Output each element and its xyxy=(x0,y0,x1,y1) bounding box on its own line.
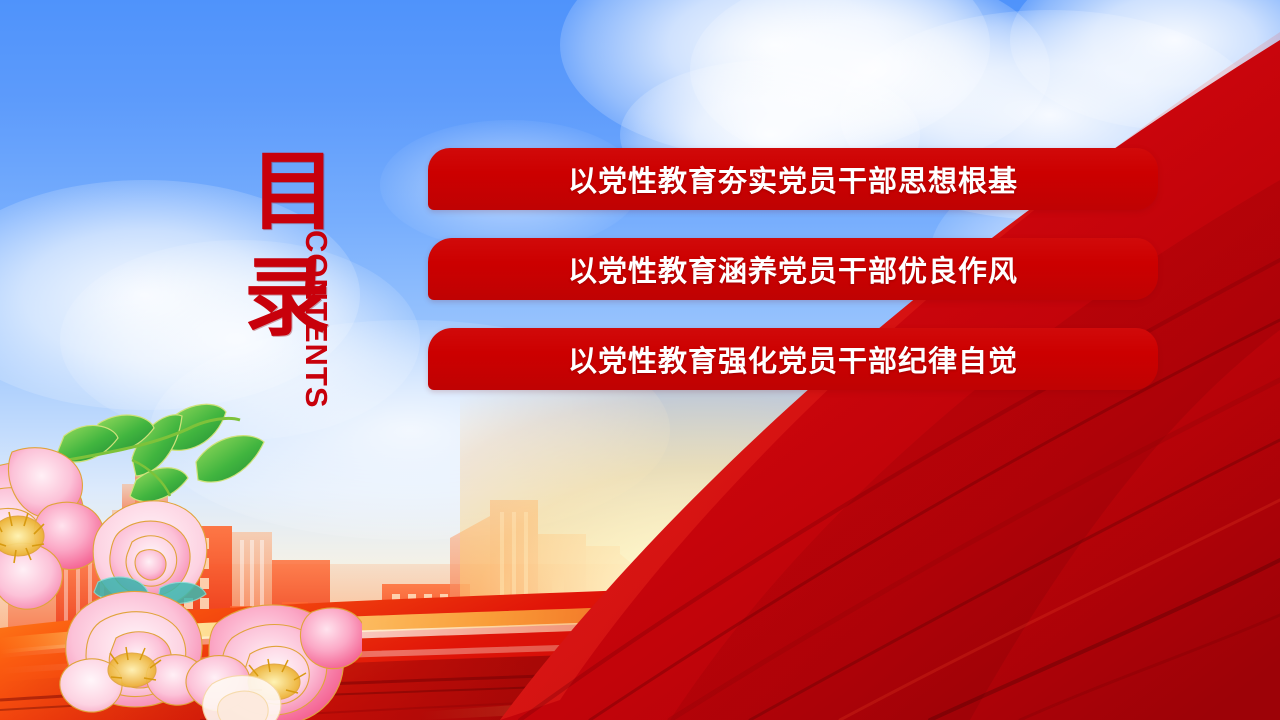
contents-title-block: 目 录 CONTENTS xyxy=(250,150,400,420)
slide-canvas: 目 录 CONTENTS 以党性教育夯实党员干部思想根基 以党性教育涵养党员干部… xyxy=(0,0,1280,720)
contents-title-cn-char-1: 目 xyxy=(250,150,350,234)
contents-item-1[interactable]: 以党性教育夯实党员干部思想根基 xyxy=(428,148,1158,210)
contents-title-en: CONTENTS xyxy=(298,230,334,409)
contents-item-label: 以党性教育强化党员干部纪律自觉 xyxy=(568,338,1018,380)
contents-item-3[interactable]: 以党性教育强化党员干部纪律自觉 xyxy=(428,328,1158,390)
contents-list: 以党性教育夯实党员干部思想根基 以党性教育涵养党员干部优良作风 以党性教育强化党… xyxy=(428,148,1158,390)
contents-title-cn-char-2: 录 xyxy=(244,256,350,340)
contents-item-label: 以党性教育夯实党员干部思想根基 xyxy=(568,158,1018,200)
contents-item-label: 以党性教育涵养党员干部优良作风 xyxy=(568,248,1018,290)
peony-flowers xyxy=(0,396,362,720)
contents-item-2[interactable]: 以党性教育涵养党员干部优良作风 xyxy=(428,238,1158,300)
